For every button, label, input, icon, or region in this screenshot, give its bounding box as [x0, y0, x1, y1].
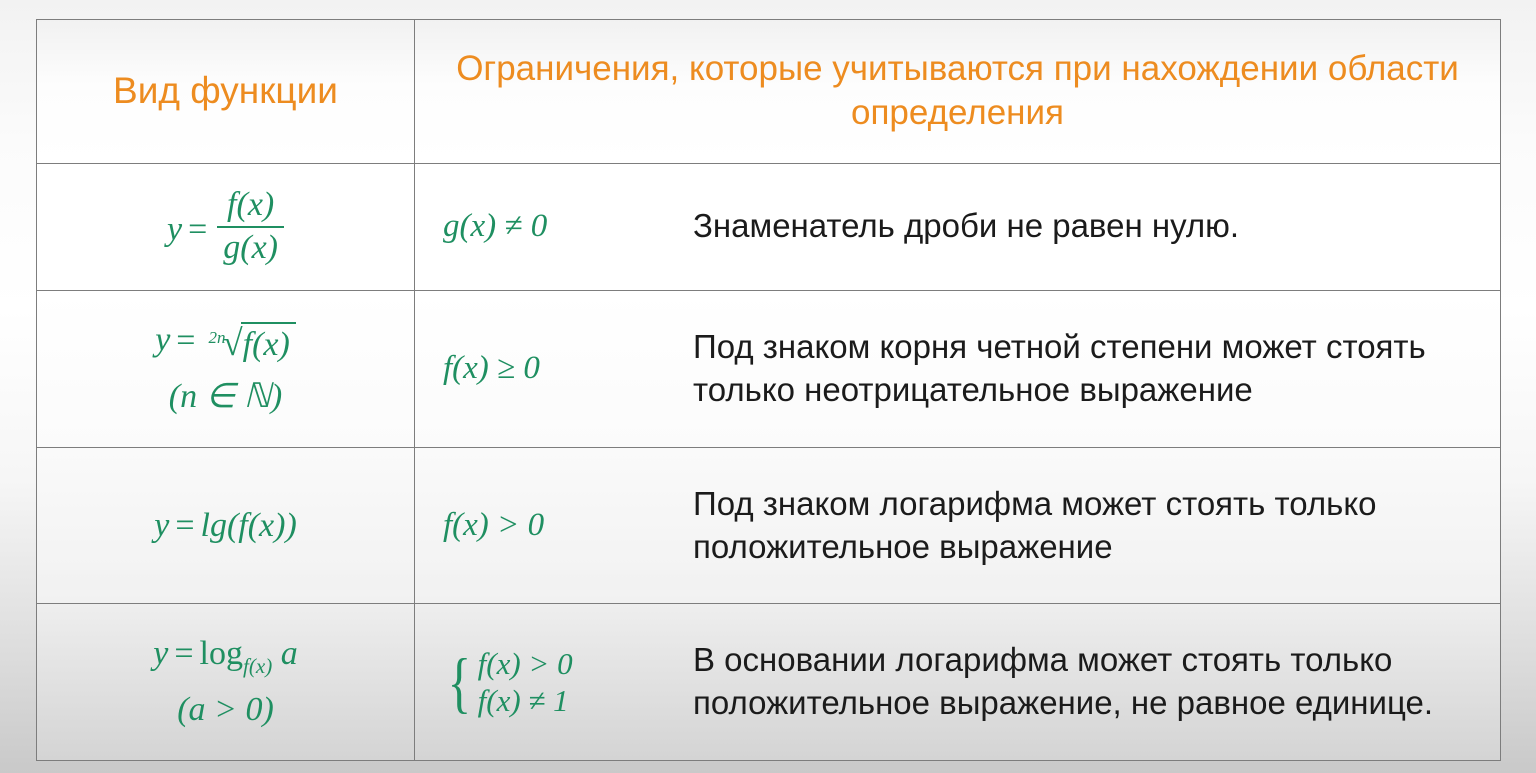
formula-condition-a: (a > 0): [37, 691, 414, 729]
definition-domain-table: Вид функции Ограничения, которые учитыва…: [36, 19, 1501, 761]
condition-expression: f(x) > 0: [443, 507, 693, 544]
condition-expression: g(x) ≠ 0: [443, 208, 693, 245]
restriction-cell-logarithm: f(x) > 0 Под знаком логарифма может стоя…: [415, 447, 1501, 604]
formula-condition-n: (n ∈ ℕ): [37, 376, 414, 416]
restriction-cell-log-base: { f(x) > 0 f(x) ≠ 1 В основании логарифм…: [415, 604, 1501, 761]
restriction-cell-even-root: f(x) ≥ 0 Под знаком корня четной степени…: [415, 291, 1501, 448]
formula-lhs: y: [153, 635, 168, 672]
log-operator: log: [200, 635, 243, 672]
formula-lhs: y: [154, 507, 169, 544]
slide-canvas: Вид функции Ограничения, которые учитыва…: [0, 0, 1536, 773]
formula-equals: =: [170, 322, 201, 359]
condition-description: Знаменатель дроби не равен нулю.: [693, 205, 1482, 248]
formula-lhs: y: [155, 322, 170, 359]
table-row: y=2n√f(x) (n ∈ ℕ) f(x) ≥ 0 Под знаком ко…: [37, 291, 1501, 448]
formula-equals: =: [182, 211, 213, 248]
log-base: f(x): [243, 654, 272, 678]
table-row: y=f(x)g(x) g(x) ≠ 0 Знаменатель дроби не…: [37, 163, 1501, 291]
formula-lhs: y: [167, 211, 182, 248]
restriction-cell-fraction: g(x) ≠ 0 Знаменатель дроби не равен нулю…: [415, 163, 1501, 291]
table-header-row: Вид функции Ограничения, которые учитыва…: [37, 20, 1501, 164]
table-row: y=logf(x) a (a > 0) { f(x) > 0 f(x) ≠ 1: [37, 604, 1501, 761]
condition-description: Под знаком логарифма может стоять только…: [693, 483, 1482, 569]
restriction-row: { f(x) > 0 f(x) ≠ 1 В основании логарифм…: [415, 604, 1500, 760]
radical-index: 2n: [208, 328, 225, 347]
header-label-function-type: Вид функции: [113, 70, 338, 111]
system-equations: f(x) > 0 f(x) ≠ 1: [478, 645, 573, 719]
system-of-inequalities: { f(x) > 0 f(x) ≠ 1: [443, 645, 573, 719]
condition-expression-system: { f(x) > 0 f(x) ≠ 1: [443, 645, 693, 719]
fraction-denominator: g(x): [217, 226, 284, 267]
log-argument: a: [281, 635, 298, 672]
formula-cell-log-base: y=logf(x) a (a > 0): [37, 604, 415, 761]
table-row: y=lg(f(x)) f(x) > 0 Под знаком логарифма…: [37, 447, 1501, 604]
restriction-row: f(x) > 0 Под знаком логарифма может стоя…: [415, 448, 1500, 604]
restriction-row: f(x) ≥ 0 Под знаком корня четной степени…: [415, 291, 1500, 447]
system-equation-1: f(x) > 0: [478, 645, 573, 682]
left-brace-icon: {: [448, 656, 472, 709]
radical-sign-icon: √: [222, 322, 242, 363]
condition-description: Под знаком корня четной степени может ст…: [693, 326, 1482, 412]
condition-description: В основании логарифма может стоять тольк…: [693, 639, 1482, 725]
radical: 2n√f(x): [205, 321, 295, 364]
definition-domain-table-wrapper: Вид функции Ограничения, которые учитыва…: [36, 19, 1500, 761]
formula-equals: =: [168, 635, 199, 672]
header-cell-function-type: Вид функции: [37, 20, 415, 164]
formula-cell-even-root: y=2n√f(x) (n ∈ ℕ): [37, 291, 415, 448]
radicand: f(x): [241, 322, 296, 364]
header-label-restrictions-line1: Ограничения, которые учитываются при нах…: [456, 49, 1318, 88]
fraction-numerator: f(x): [217, 187, 284, 226]
formula-expression: lg(f(x)): [201, 507, 297, 544]
formula-cell-fraction: y=f(x)g(x): [37, 163, 415, 291]
restriction-row: g(x) ≠ 0 Знаменатель дроби не равен нулю…: [415, 164, 1500, 291]
condition-expression: f(x) ≥ 0: [443, 350, 693, 387]
formula-equals: =: [169, 507, 200, 544]
formula-cell-logarithm: y=lg(f(x)): [37, 447, 415, 604]
system-equation-2: f(x) ≠ 1: [478, 682, 573, 719]
fraction: f(x)g(x): [217, 187, 284, 266]
header-cell-restrictions: Ограничения, которые учитываются при нах…: [415, 20, 1501, 164]
